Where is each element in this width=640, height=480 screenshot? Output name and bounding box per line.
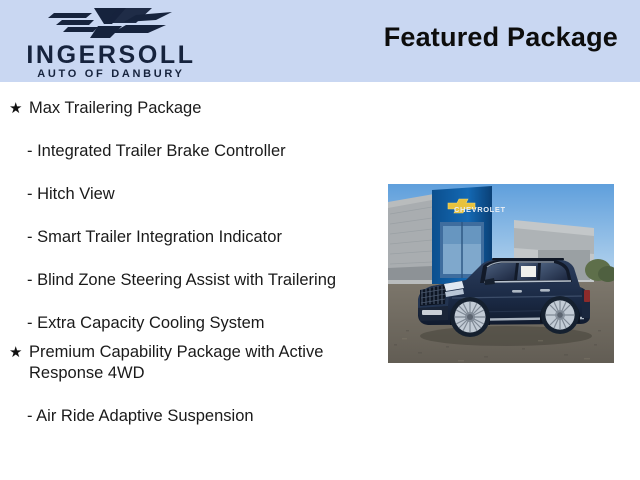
feature-label: Premium Capability Package with Active R…: [29, 342, 372, 384]
feature-label: Max Trailering Package: [29, 98, 372, 119]
dealer-sign-text: CHEVROLET: [454, 205, 506, 214]
vehicle-photo: CHEVROLET: [388, 184, 614, 363]
dealer-logo: INGERSOLL AUTO OF DANBURY: [6, 3, 216, 81]
dealer-wordmark: INGERSOLL: [6, 42, 216, 68]
feature-label: - Blind Zone Steering Assist with Traile…: [27, 270, 372, 291]
feature-subitem: - Integrated Trailer Brake Controller: [0, 141, 372, 162]
feature-subitem: - Blind Zone Steering Assist with Traile…: [0, 270, 372, 291]
dealer-subwordmark: AUTO OF DANBURY: [6, 68, 216, 81]
feature-subitem: - Air Ride Adaptive Suspension: [0, 406, 372, 427]
star-bullet-icon: ★: [9, 98, 22, 119]
feature-label: - Air Ride Adaptive Suspension: [27, 406, 372, 427]
slide-header-band: INGERSOLL AUTO OF DANBURY Featured Packa…: [0, 0, 640, 82]
star-bullet-icon: ★: [9, 342, 22, 363]
feature-label: - Hitch View: [27, 184, 372, 205]
feature-heading: ★Premium Capability Package with Active …: [0, 342, 372, 384]
feature-subitem: - Extra Capacity Cooling System: [0, 313, 372, 334]
page-title: Featured Package: [384, 22, 618, 53]
slide-body: ★Max Trailering Package- Integrated Trai…: [0, 82, 640, 480]
feature-label: - Extra Capacity Cooling System: [27, 313, 372, 334]
feature-label: - Integrated Trailer Brake Controller: [27, 141, 372, 162]
feature-list: ★Max Trailering Package- Integrated Trai…: [0, 82, 372, 427]
feature-subitem: - Hitch View: [0, 184, 372, 205]
feature-heading: ★Max Trailering Package: [0, 98, 372, 119]
feature-subitem: - Smart Trailer Integration Indicator: [0, 227, 372, 248]
ingersoll-winged-emblem-icon: [48, 4, 172, 42]
feature-label: - Smart Trailer Integration Indicator: [27, 227, 372, 248]
